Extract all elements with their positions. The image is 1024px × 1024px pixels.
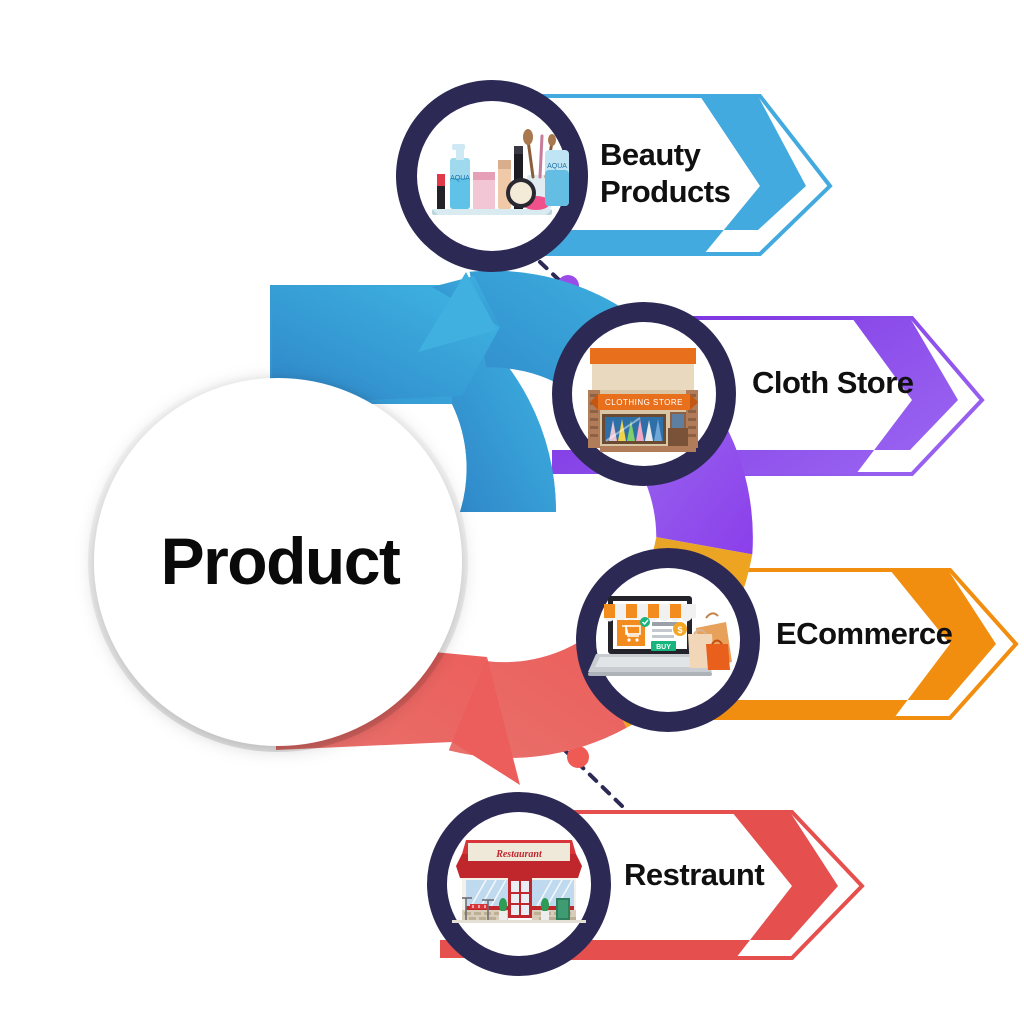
branch-label-cloth[interactable]: Cloth Store <box>752 365 914 402</box>
svg-text:$: $ <box>677 625 682 635</box>
branch-label-beauty[interactable]: Beauty Products <box>600 137 730 210</box>
restaurant-storefront-icon: Restaurant <box>452 840 586 923</box>
center-label: Product <box>100 523 460 599</box>
icon-circle-ecommerce[interactable]: $ BUY <box>576 548 760 732</box>
svg-text:Restaurant: Restaurant <box>495 849 543 860</box>
infographic-canvas: AQUA <box>0 0 1024 1024</box>
branch-label-restraunt[interactable]: Restraunt <box>624 857 764 894</box>
icon-circle-cloth[interactable]: CLOTHING STORE <box>552 302 736 486</box>
infographic-svg: AQUA <box>0 0 1024 1024</box>
icon-circle-restraunt[interactable]: Restaurant <box>427 792 611 976</box>
svg-text:AQUA: AQUA <box>450 175 470 182</box>
branch-label-ecommerce[interactable]: ECommerce <box>776 616 952 653</box>
svg-text:AQUA: AQUA <box>547 163 567 170</box>
svg-text:CLOTHING STORE: CLOTHING STORE <box>605 398 683 407</box>
clothing-store-icon: CLOTHING STORE <box>588 348 698 452</box>
icon-circle-beauty[interactable]: AQUA <box>396 80 588 272</box>
svg-text:BUY: BUY <box>656 644 671 651</box>
